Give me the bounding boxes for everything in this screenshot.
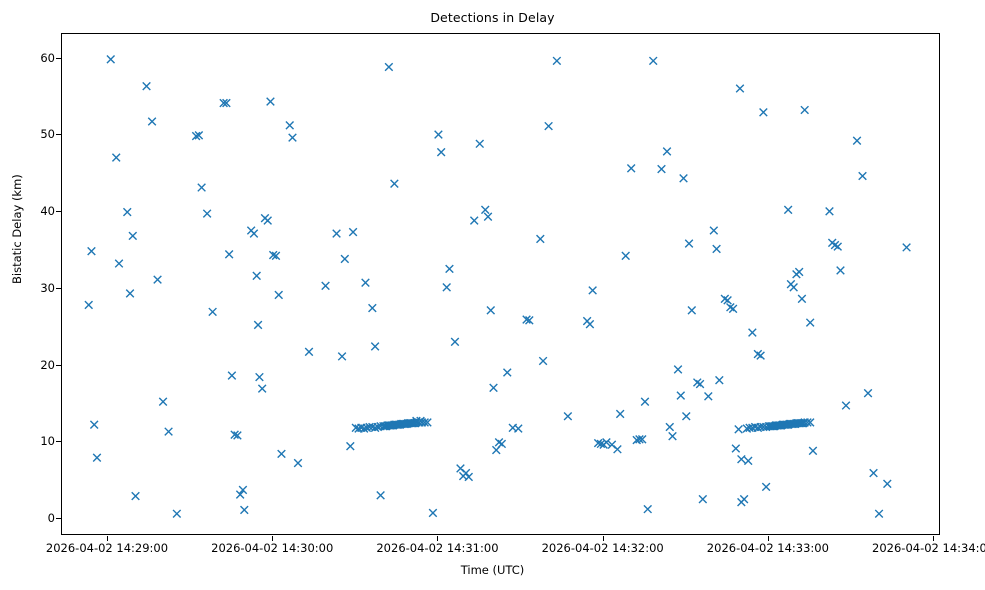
y-axis-tick-label: 30 xyxy=(9,281,55,295)
scatter-point xyxy=(680,175,688,183)
scatter-point xyxy=(435,131,443,139)
scatter-points-layer xyxy=(62,34,941,536)
scatter-point xyxy=(85,301,93,309)
scatter-point xyxy=(760,108,768,116)
scatter-point xyxy=(429,509,437,517)
scatter-point xyxy=(278,450,286,458)
scatter-point xyxy=(727,303,735,311)
scatter-point xyxy=(627,165,635,173)
x-axis-tick-label: 2026-04-02 14:31:00 xyxy=(376,541,498,555)
scatter-point xyxy=(641,398,649,406)
scatter-point xyxy=(123,208,131,216)
scatter-point xyxy=(666,423,674,431)
scatter-point xyxy=(729,305,737,313)
scatter-point xyxy=(126,290,134,298)
scatter-point xyxy=(371,343,379,351)
scatter-point xyxy=(451,338,459,346)
scatter-point xyxy=(539,357,547,365)
x-axis-tick-label: 2026-04-02 14:32:00 xyxy=(542,541,664,555)
scatter-point xyxy=(801,106,809,114)
scatter-point xyxy=(826,208,834,216)
scatter-point xyxy=(537,235,545,243)
scatter-point xyxy=(107,56,115,64)
scatter-series-group xyxy=(85,56,910,518)
scatter-point xyxy=(495,439,503,447)
scatter-point xyxy=(484,213,492,221)
scatter-point xyxy=(903,244,911,252)
scatter-point xyxy=(693,379,701,387)
scatter-point xyxy=(115,260,123,268)
scatter-point xyxy=(90,421,98,429)
scatter-point xyxy=(757,352,765,360)
scatter-point xyxy=(514,425,522,433)
scatter-point xyxy=(203,210,211,218)
scatter-point xyxy=(622,252,630,260)
scatter-point xyxy=(362,279,370,287)
scatter-point xyxy=(688,307,696,315)
scatter-point xyxy=(385,63,393,71)
figure-canvas: Detections in Delay Bistatic Delay (km) … xyxy=(0,0,985,590)
scatter-point xyxy=(305,348,313,356)
scatter-point xyxy=(264,217,272,225)
scatter-point xyxy=(669,432,677,440)
y-axis-tick-label: 40 xyxy=(9,204,55,218)
scatter-point xyxy=(732,445,740,453)
scatter-point xyxy=(487,307,495,315)
scatter-point xyxy=(798,295,806,303)
scatter-point xyxy=(294,459,302,467)
y-axis-tick-label: 50 xyxy=(9,127,55,141)
scatter-point xyxy=(740,495,748,503)
y-axis-tick-label: 10 xyxy=(9,434,55,448)
scatter-point xyxy=(586,320,594,328)
scatter-point xyxy=(806,319,814,327)
scatter-point xyxy=(132,492,140,500)
scatter-point xyxy=(275,291,283,299)
scatter-point xyxy=(795,268,803,276)
scatter-point xyxy=(377,492,385,500)
scatter-point xyxy=(225,250,233,258)
scatter-point xyxy=(713,245,721,253)
scatter-point xyxy=(644,505,652,513)
scatter-point xyxy=(831,241,839,249)
scatter-point xyxy=(198,184,206,192)
scatter-point xyxy=(338,353,346,361)
scatter-point xyxy=(837,267,845,275)
scatter-point xyxy=(564,412,572,420)
scatter-point xyxy=(154,276,162,284)
scatter-point xyxy=(228,372,236,380)
scatter-point xyxy=(696,380,704,388)
scatter-point xyxy=(470,217,478,225)
scatter-point xyxy=(437,148,445,156)
scatter-point xyxy=(148,118,156,126)
scatter-point xyxy=(724,297,732,305)
scatter-point xyxy=(391,180,399,188)
scatter-point xyxy=(253,272,261,280)
scatter-point xyxy=(209,308,217,316)
scatter-point xyxy=(173,510,181,518)
scatter-point xyxy=(165,428,173,436)
scatter-point xyxy=(254,321,262,329)
scatter-point xyxy=(736,85,744,93)
scatter-point xyxy=(553,57,561,65)
scatter-point xyxy=(658,165,666,173)
scatter-point xyxy=(616,410,624,418)
scatter-point xyxy=(721,295,729,303)
plot-area xyxy=(61,33,940,535)
scatter-point xyxy=(853,137,861,145)
x-axis-tick-label: 2026-04-02 14:34:00 xyxy=(872,541,985,555)
scatter-point xyxy=(240,506,248,514)
scatter-point xyxy=(685,240,693,248)
scatter-point xyxy=(349,228,357,236)
scatter-point xyxy=(341,255,349,263)
scatter-point xyxy=(498,440,506,448)
scatter-point xyxy=(286,122,294,130)
x-axis-tick-label: 2026-04-02 14:30:00 xyxy=(211,541,333,555)
y-axis-tick-label: 60 xyxy=(9,51,55,65)
scatter-point xyxy=(716,376,724,384)
scatter-point xyxy=(289,134,297,142)
scatter-point xyxy=(333,230,341,238)
scatter-point xyxy=(842,402,850,410)
scatter-point xyxy=(649,57,657,65)
scatter-point xyxy=(677,392,685,400)
scatter-point xyxy=(754,350,762,358)
y-axis-tick-label: 0 xyxy=(9,511,55,525)
scatter-point xyxy=(545,122,553,130)
scatter-point xyxy=(256,373,264,381)
scatter-point xyxy=(674,366,682,374)
scatter-point xyxy=(347,442,355,450)
scatter-point xyxy=(790,284,798,292)
scatter-point xyxy=(369,304,377,312)
y-axis-tick-label: 20 xyxy=(9,358,55,372)
scatter-point xyxy=(93,454,101,462)
scatter-point xyxy=(710,227,718,235)
scatter-point xyxy=(705,392,713,400)
x-axis-tick-label: 2026-04-02 14:29:00 xyxy=(46,541,168,555)
scatter-point xyxy=(784,206,792,214)
scatter-point xyxy=(476,140,484,148)
scatter-point xyxy=(875,510,883,518)
scatter-point xyxy=(699,495,707,503)
scatter-point xyxy=(749,329,757,337)
scatter-point xyxy=(490,384,498,392)
scatter-point xyxy=(859,172,867,180)
scatter-point xyxy=(884,480,892,488)
scatter-point xyxy=(864,389,872,397)
scatter-point xyxy=(446,265,454,273)
scatter-point xyxy=(250,230,258,238)
scatter-point xyxy=(809,447,817,455)
scatter-point xyxy=(258,385,266,393)
scatter-point xyxy=(129,232,137,240)
scatter-series-detections xyxy=(62,34,941,536)
scatter-point xyxy=(267,98,275,106)
scatter-point xyxy=(159,398,167,406)
scatter-point xyxy=(503,369,511,377)
scatter-point xyxy=(663,148,671,156)
scatter-point xyxy=(322,282,330,290)
scatter-point xyxy=(462,469,470,477)
x-axis-tick-label: 2026-04-02 14:33:00 xyxy=(707,541,829,555)
scatter-point xyxy=(744,457,752,465)
scatter-point xyxy=(682,412,690,420)
scatter-point xyxy=(88,247,96,255)
scatter-point xyxy=(443,284,451,292)
scatter-point xyxy=(589,287,597,295)
scatter-point xyxy=(735,426,743,434)
x-axis-label: Time (UTC) xyxy=(0,563,985,577)
scatter-point xyxy=(481,206,489,214)
scatter-point xyxy=(465,473,473,481)
scatter-point xyxy=(870,469,878,477)
scatter-point xyxy=(112,154,120,162)
scatter-point xyxy=(614,445,622,453)
scatter-point xyxy=(738,455,746,463)
scatter-point xyxy=(143,82,151,90)
chart-title: Detections in Delay xyxy=(0,10,985,25)
scatter-point xyxy=(762,483,770,491)
scatter-point xyxy=(834,243,842,251)
